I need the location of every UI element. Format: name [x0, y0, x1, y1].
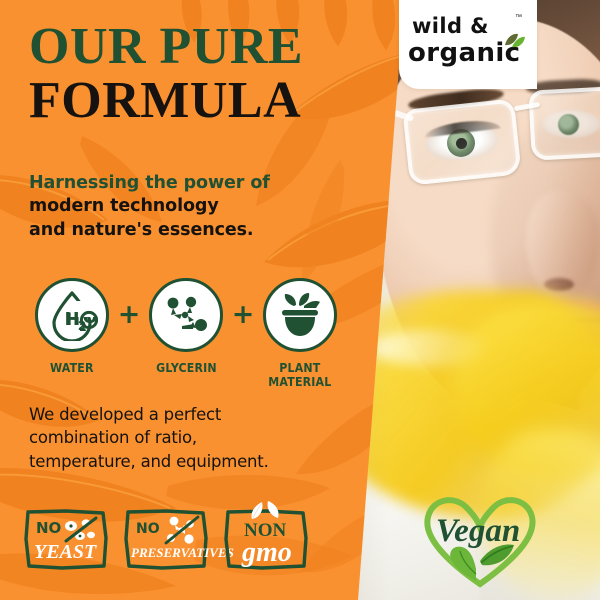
poster-canvas: Vegan	[0, 0, 600, 600]
ingredient-row: H 2 O H 2 WATER +	[28, 278, 348, 389]
subheading: Harnessing the power of modern technolog…	[29, 172, 349, 242]
claim-prefix: NO	[136, 521, 160, 537]
subheading-line-2: modern technology	[29, 195, 349, 218]
ingredient-plant-label: PLANT MATERIAL	[268, 361, 331, 389]
ingredient-plant-material: PLANT MATERIAL	[256, 278, 344, 389]
molecule-icon	[160, 289, 212, 341]
ingredient-plant-label-line2: MATERIAL	[268, 374, 331, 389]
ingredient-water-circle: H 2 O H 2	[35, 278, 109, 352]
claim-badge-no-yeast: NO YEAST	[22, 508, 110, 570]
subheading-line-3: and nature's essences.	[29, 219, 349, 242]
body-line-3: temperature, and equipment.	[29, 450, 347, 473]
brand-logo: wild & organic ™	[408, 16, 528, 72]
claim-word: YEAST	[34, 541, 97, 563]
ingredient-glycerin-label: GLYCERIN	[156, 361, 217, 375]
body-paragraph: We developed a perfect combination of ra…	[29, 403, 347, 473]
no-yeast-crossed-icon	[65, 518, 96, 541]
ingredient-water: H 2 O H 2 WATER	[28, 278, 116, 375]
leaf-icon	[504, 32, 526, 48]
vegan-badge: Vegan	[418, 489, 542, 589]
orange-panel: OUR PURE FORMULA Harnessing the power of…	[0, 0, 420, 600]
ingredient-glycerin-circle	[149, 278, 223, 352]
ingredient-plant-circle	[263, 278, 337, 352]
headline-line-1: OUR PURE	[29, 22, 369, 72]
claim-badge-non-gmo: NON gmo	[222, 508, 310, 570]
ingredient-plant-label-line1: PLANT	[279, 360, 320, 375]
body-line-2: combination of ratio,	[29, 426, 347, 449]
vegan-label: Vegan	[436, 513, 520, 549]
heart-leaf-icon: Vegan	[427, 500, 532, 584]
claim-word: PRESERVATIVES	[131, 545, 234, 560]
water-droplet-h2o-icon: H 2 O H 2	[46, 289, 98, 341]
ingredient-glycerin: GLYCERIN	[142, 278, 230, 375]
subheading-line-1: Harnessing the power of	[29, 172, 349, 195]
plus-separator-2: +	[230, 278, 256, 352]
body-line-1: We developed a perfect	[29, 403, 347, 426]
claim-badge-no-preservatives: NO PRESERVATIVES	[122, 508, 210, 570]
page-title: OUR PURE FORMULA	[29, 22, 369, 126]
brand-logo-card[interactable]: wild & organic ™	[399, 0, 537, 89]
claim-badge-row: NO YEAST	[22, 508, 310, 570]
no-preservatives-crossed-icon	[166, 517, 198, 544]
plus-separator-1: +	[116, 278, 142, 352]
mortar-pestle-leaves-icon	[274, 289, 326, 341]
claim-word: gmo	[241, 537, 292, 568]
ingredient-water-label: WATER	[50, 361, 94, 375]
headline-line-2: FORMULA	[29, 76, 369, 126]
claim-prefix: NO	[36, 519, 61, 537]
trademark-symbol: ™	[515, 14, 522, 21]
